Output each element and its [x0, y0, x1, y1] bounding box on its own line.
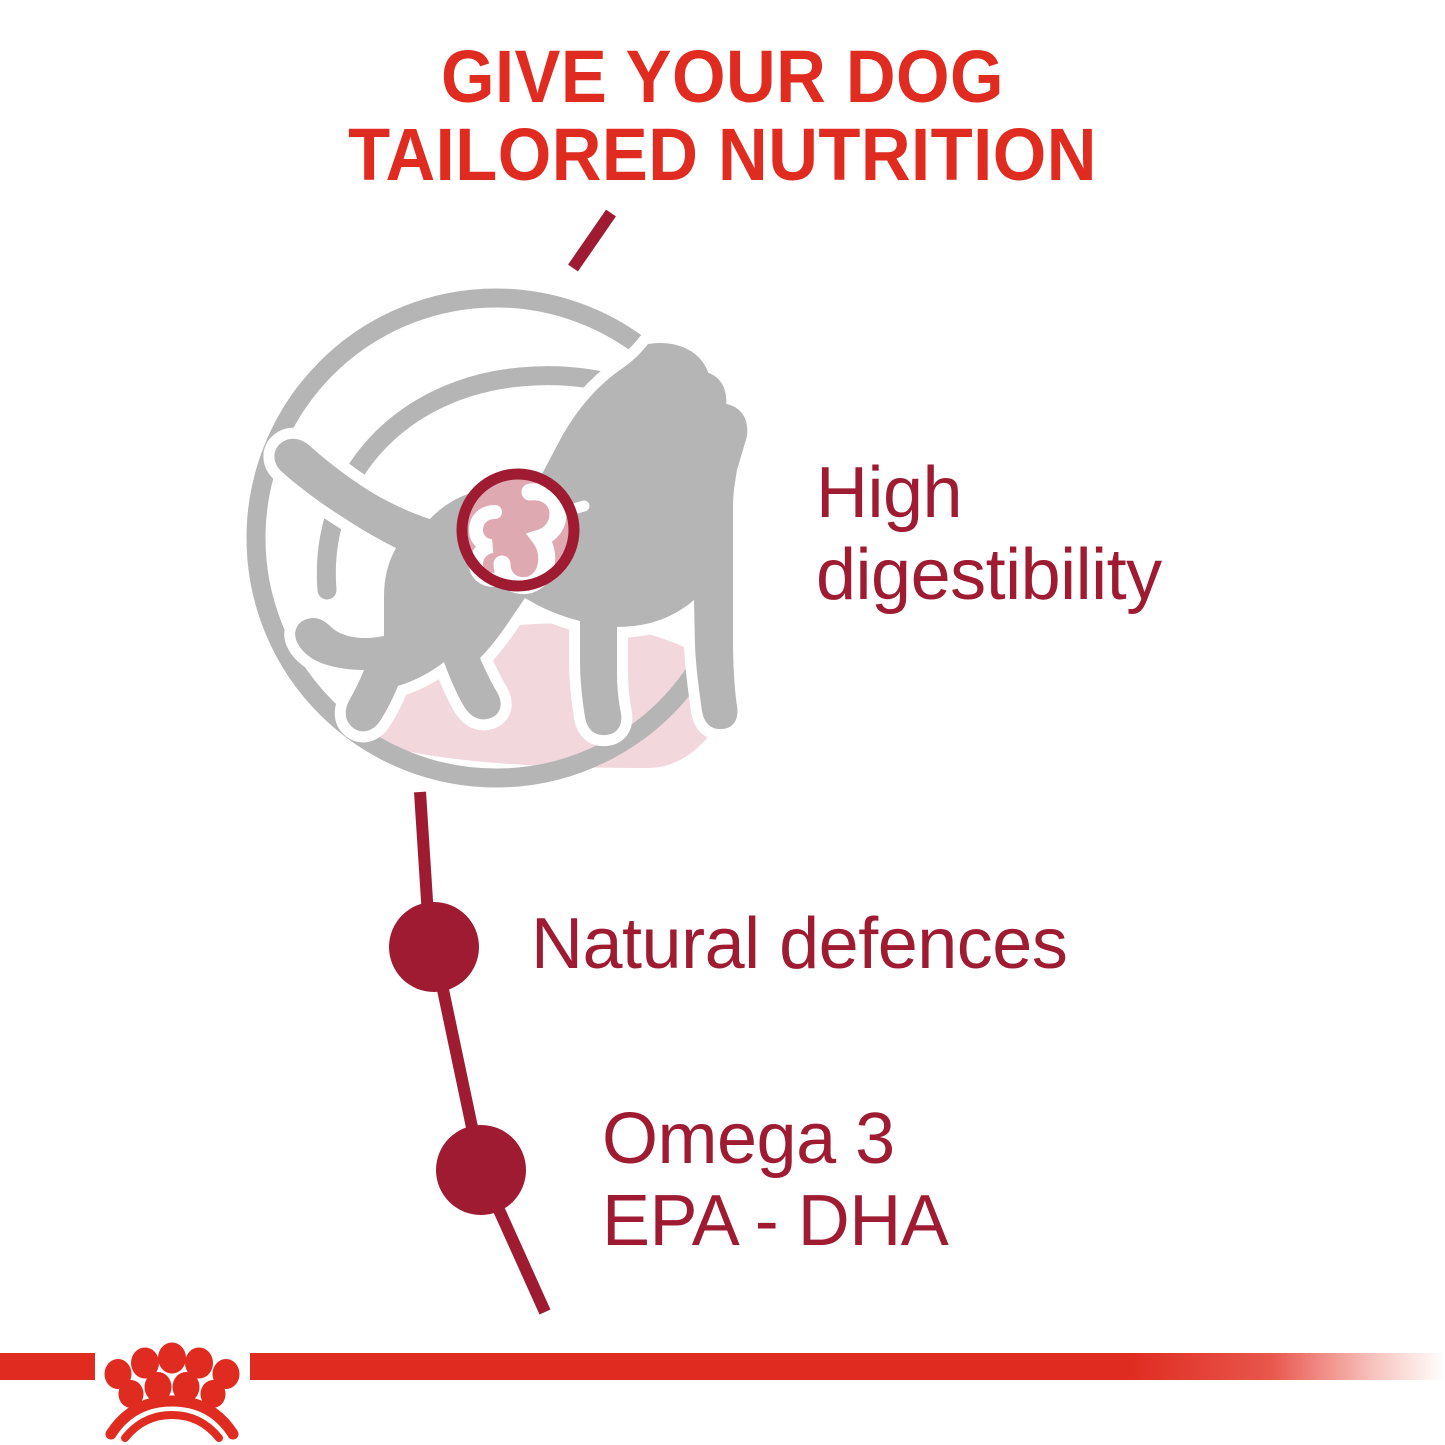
benefit-line: High [816, 452, 1162, 534]
brand-footer [0, 1330, 1445, 1445]
benefit-line: EPA - DHA [602, 1180, 948, 1262]
benefit-line: Natural defences [531, 903, 1067, 985]
benefit-label-natural-defences: Natural defences [531, 903, 1067, 985]
crown-icon [95, 1330, 250, 1445]
product-benefits-panel: GIVE YOUR DOG TAILORED NUTRITION [0, 0, 1445, 1445]
benefit-label-omega-3: Omega 3 EPA - DHA [602, 1098, 948, 1262]
connector-node-2 [436, 1125, 526, 1215]
benefit-line: Omega 3 [602, 1098, 948, 1180]
benefit-line: digestibility [816, 534, 1162, 616]
connector-node-1 [389, 902, 479, 992]
benefit-label-high-digestibility: High digestibility [816, 452, 1162, 616]
